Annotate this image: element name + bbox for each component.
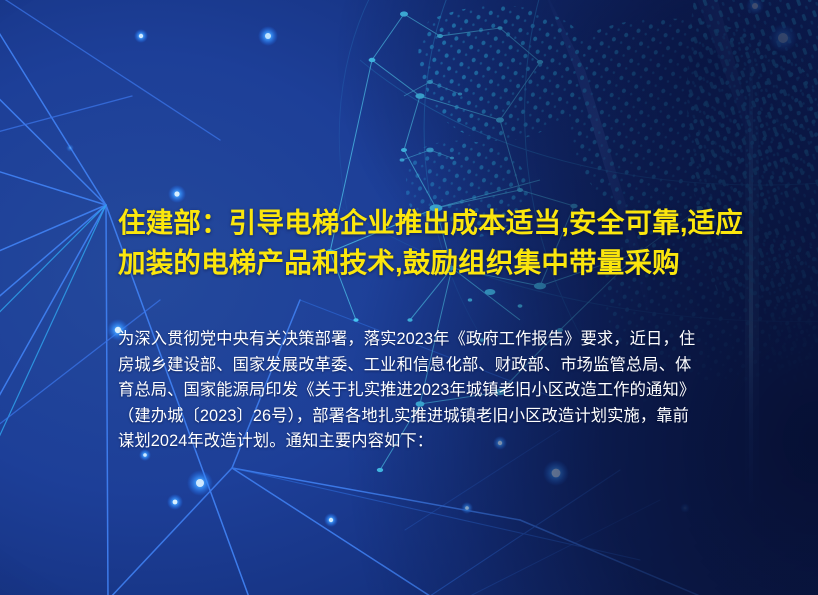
body-paragraph: 为深入贯彻党中央有关决策部署，落实2023年《政府工作报告》要求，近日，住 房城…: [118, 327, 794, 455]
background-network-artwork: [0, 0, 818, 595]
banner-image: 住建部：引导电梯企业推出成本适当,安全可靠,适应 加装的电梯产品和技术,鼓励组织…: [0, 0, 818, 595]
headline-title: 住建部：引导电梯企业推出成本适当,安全可靠,适应 加装的电梯产品和技术,鼓励组织…: [118, 203, 808, 283]
